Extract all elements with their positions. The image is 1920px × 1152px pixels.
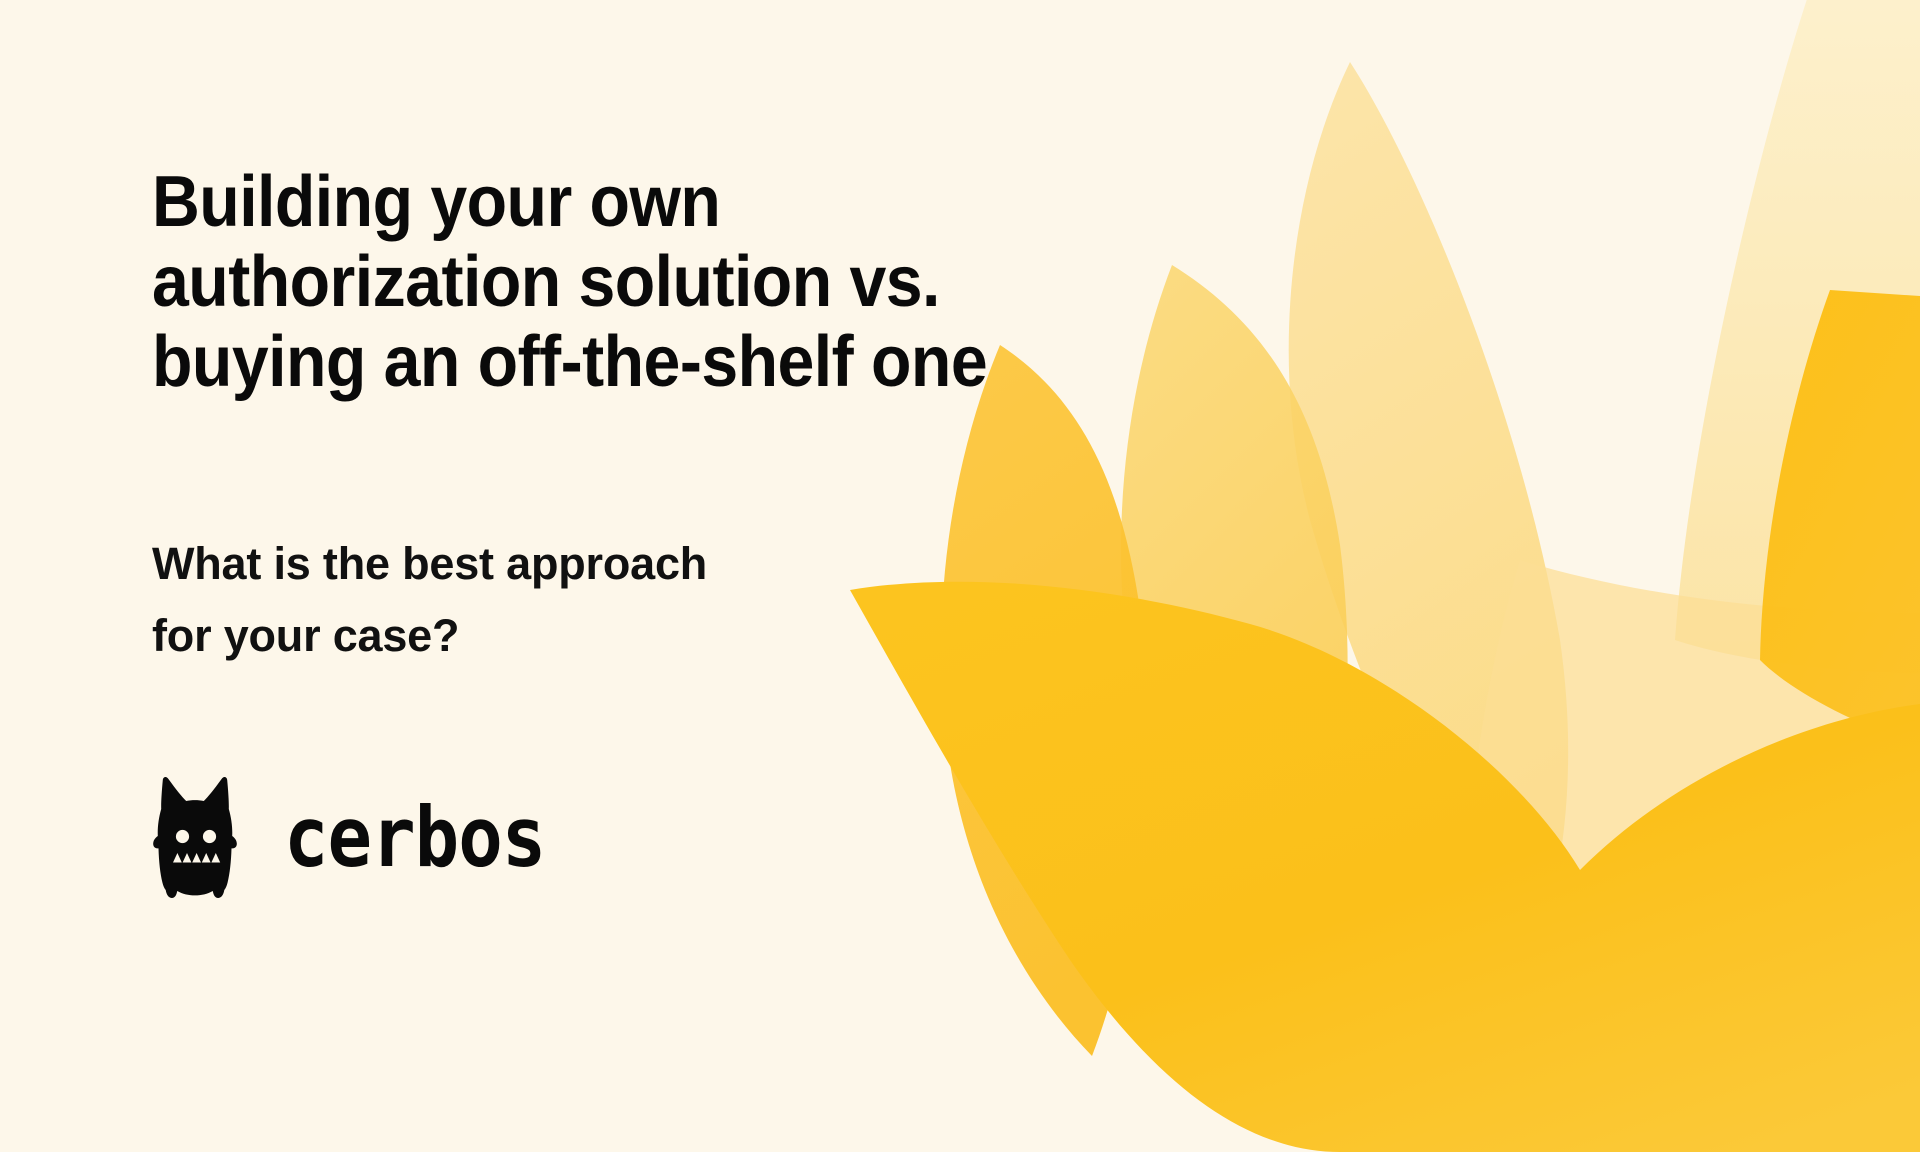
- cerbos-wordmark: cerbos: [284, 797, 545, 880]
- cerbos-mascot-icon: [152, 774, 238, 902]
- cerbos-logo: cerbos: [152, 768, 545, 908]
- page-title: Building your own authorization solution…: [152, 162, 1026, 402]
- cover-canvas: Building your own authorization solution…: [0, 0, 1920, 1152]
- page-title-line-2: authorization solution vs.: [152, 242, 1026, 322]
- page-subtitle: What is the best approach for your case?: [152, 528, 872, 672]
- page-title-line-1: Building your own: [152, 162, 1026, 242]
- petal-light-tall-center: [1289, 62, 1568, 1000]
- page-title-line-3: buying an off-the-shelf one: [152, 322, 1026, 402]
- page-subtitle-line-2: for your case?: [152, 600, 872, 672]
- mascot-right-eye: [203, 830, 216, 843]
- content-column: Building your own authorization solution…: [152, 0, 1112, 1152]
- mascot-left-eye: [176, 830, 189, 843]
- petal-pale-wash: [1457, 560, 1920, 1152]
- petal-pale-tall-right: [1675, 0, 1920, 673]
- petal-mid-tall-left: [1121, 265, 1348, 1010]
- page-subtitle-line-1: What is the best approach: [152, 528, 872, 600]
- petal-deep-right-spike: [1760, 290, 1920, 762]
